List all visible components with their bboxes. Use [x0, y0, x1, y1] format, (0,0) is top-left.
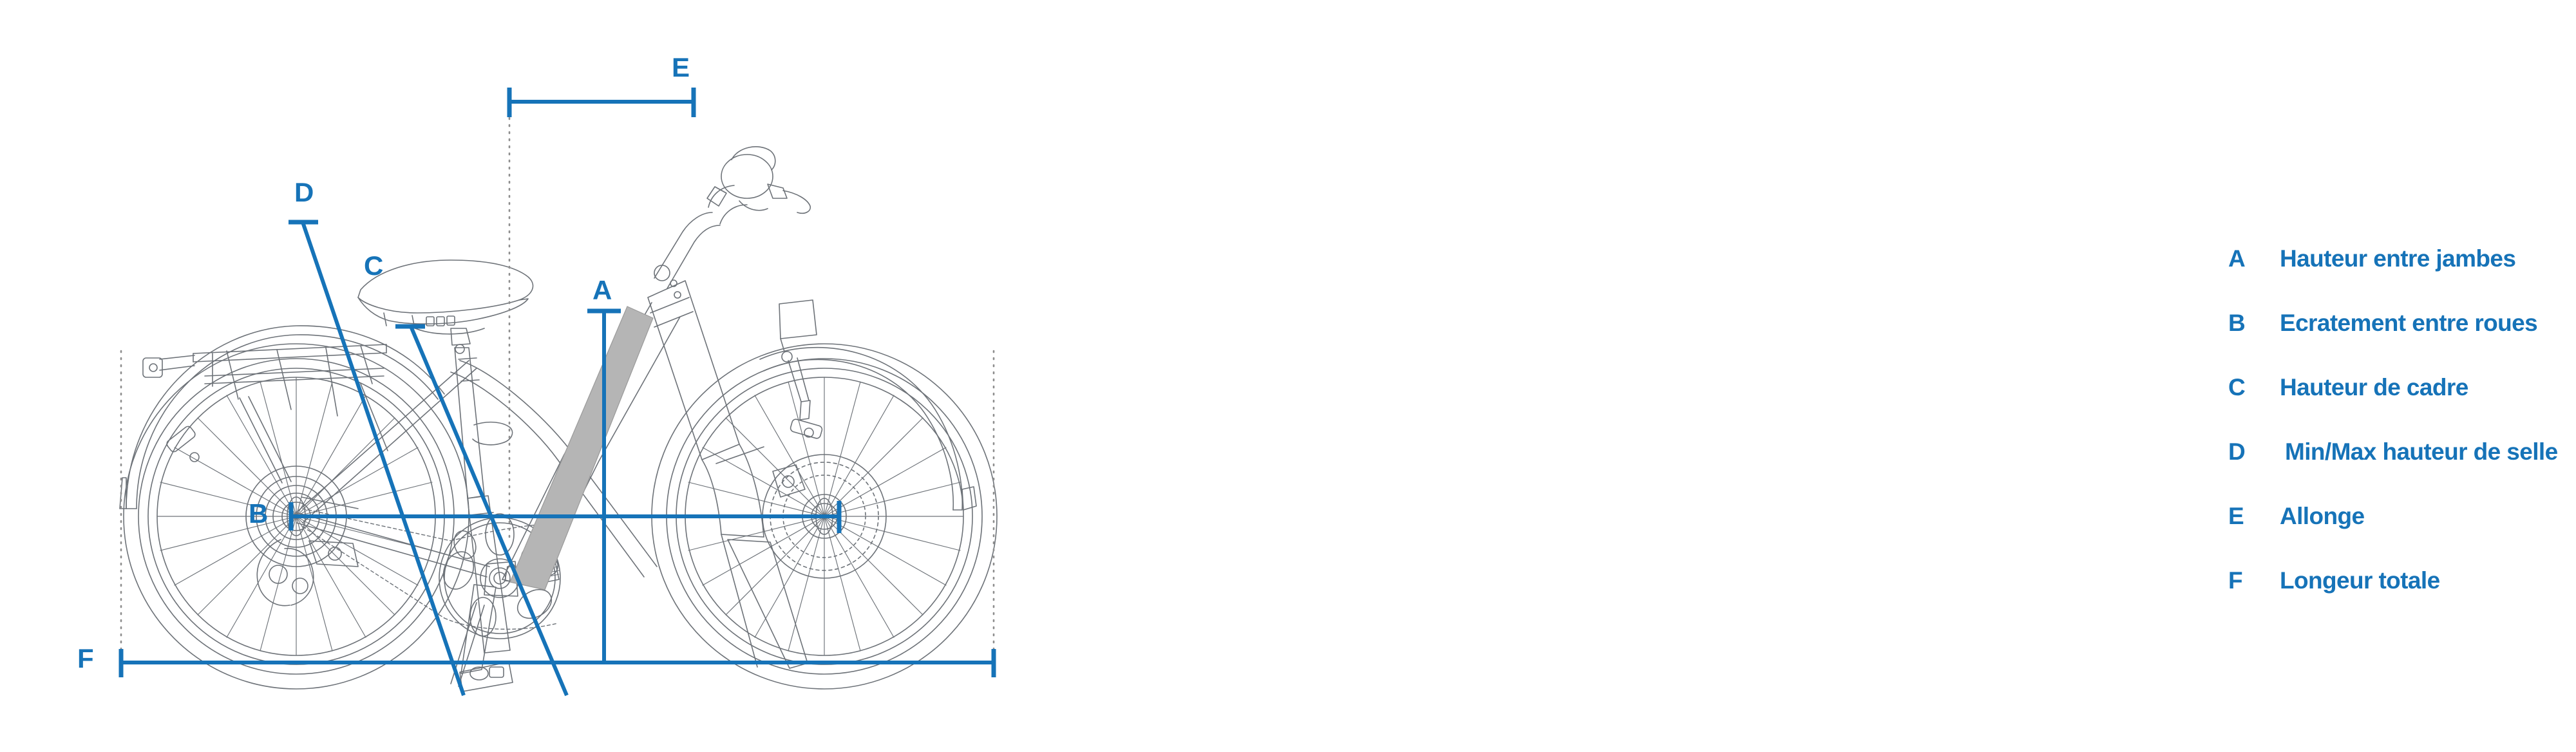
guide-lines — [121, 111, 994, 661]
dimension-label-F: F — [77, 645, 93, 672]
dimension-label-C: C — [364, 252, 383, 279]
spec-row-e: E Allonge 40.3cm / 15.9” — [2228, 497, 2576, 561]
spec-row-c: C Hauteur de cadre 42cm / 16.5” — [2228, 368, 2576, 433]
geometry-diagram-page: E D C A B F 26” A Hauteur entre jambes 6… — [0, 0, 2576, 752]
bicycle-line-drawing — [0, 0, 1056, 752]
spec-letter-d: D — [2228, 433, 2273, 471]
spec-letter-b: B — [2228, 304, 2273, 343]
spec-label-f: Longeur totale — [2280, 561, 2440, 600]
spec-row-a: A Hauteur entre jambes 62.1cm / 24.4” — [2228, 240, 2576, 304]
dimension-line-E — [509, 88, 694, 117]
spec-letter-a: A — [2228, 240, 2273, 278]
spec-letter-e: E — [2228, 497, 2273, 536]
spec-label-a: Hauteur entre jambes — [2280, 240, 2515, 278]
rear-mudguard — [120, 326, 444, 509]
spec-label-c: Hauteur de cadre — [2280, 368, 2468, 407]
leader-line-D — [289, 222, 464, 695]
bicycle-geometry-illustration: E D C A B F — [0, 0, 1056, 752]
battery-pack — [510, 306, 653, 590]
handlebar — [654, 147, 810, 298]
spec-label-e: Allonge — [2280, 497, 2364, 536]
saddle — [358, 260, 533, 353]
spec-row-f: F Longeur totale 173.5cm / 68.3” — [2228, 561, 2576, 626]
specification-table: 26” A Hauteur entre jambes 62.1cm / 24.4… — [1095, 0, 2576, 752]
spec-letter-c: C — [2228, 368, 2273, 407]
dimension-lines — [121, 88, 994, 695]
dimension-label-A: A — [592, 277, 612, 304]
spec-row-d: D Min/Max hauteur de selle 78.7-99.9cm /… — [2228, 433, 2576, 497]
dimension-label-B: B — [249, 500, 268, 527]
spec-row-b: B Ecratement entre roues 107.5cm / 42.3” — [2228, 304, 2576, 368]
spec-label-d: Min/Max hauteur de selle — [2285, 433, 2558, 471]
dimension-label-D: D — [294, 179, 314, 206]
spec-letter-f: F — [2228, 561, 2273, 600]
dimension-label-E: E — [672, 54, 690, 81]
spec-label-b: Ecratement entre roues — [2280, 304, 2537, 343]
bicycle-outline — [120, 147, 997, 691]
